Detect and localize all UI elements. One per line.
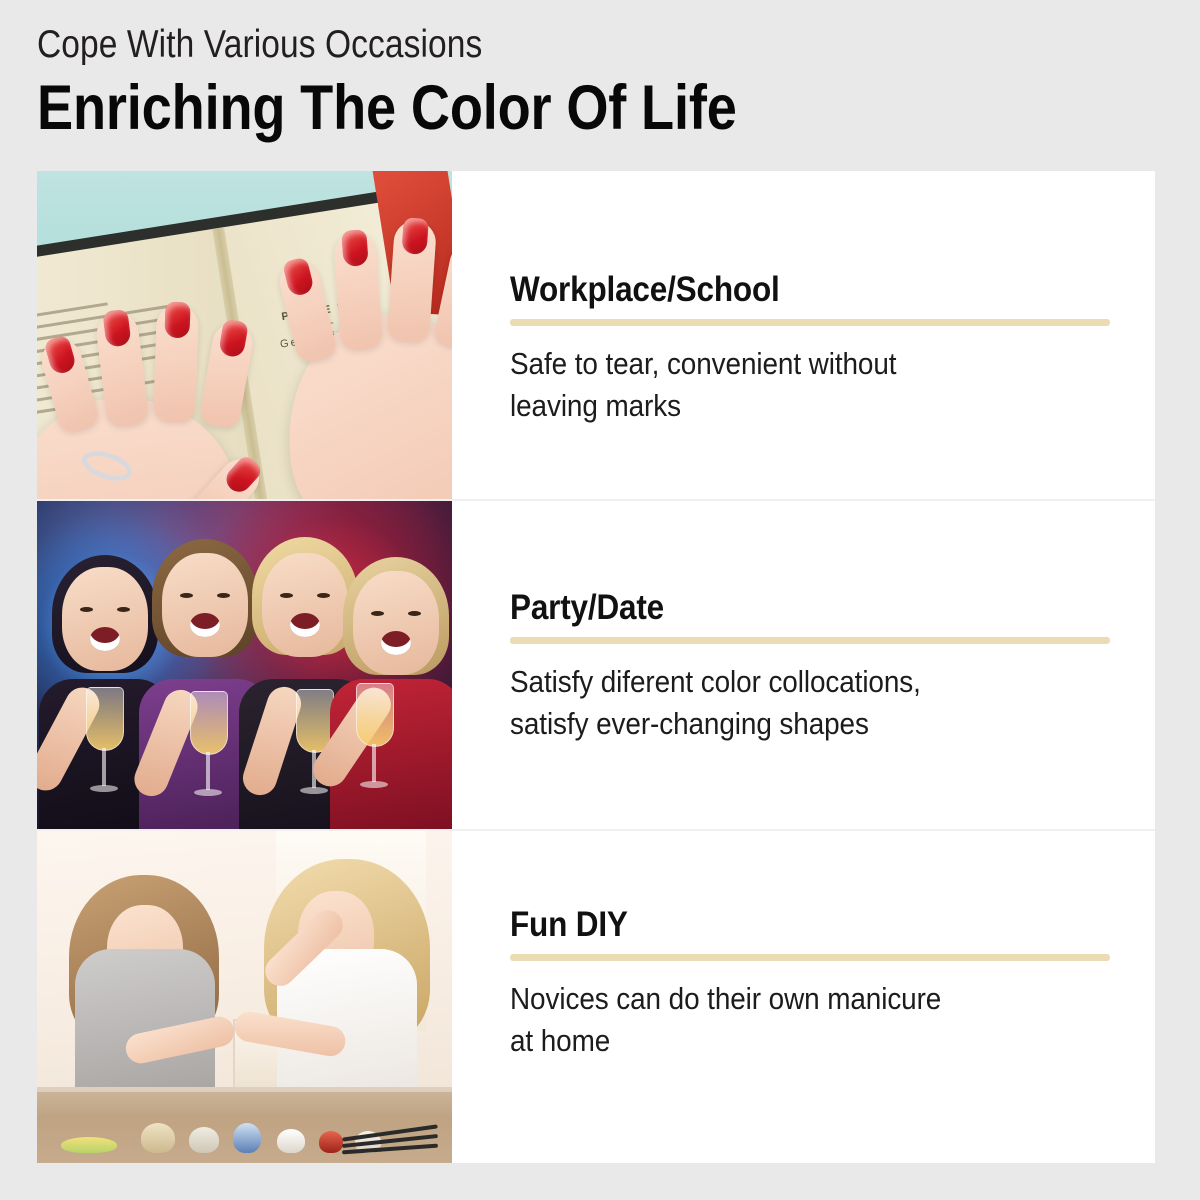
champagne-glass: [351, 683, 397, 795]
glass-bowl: [356, 683, 394, 747]
nail-pot: [233, 1123, 261, 1153]
feature-row-party-date: Party/Date Satisfy diferent color colloc…: [37, 501, 1155, 831]
nail-pot: [319, 1131, 343, 1153]
glass-foot: [194, 789, 222, 796]
feature-copy-fun-diy: Fun DIY Novices can do their own manicur…: [452, 831, 1155, 1163]
eye: [117, 607, 130, 612]
red-nail: [43, 334, 77, 375]
eye: [217, 593, 230, 598]
open-mouth: [381, 631, 411, 655]
feature-image-fun-diy: [37, 831, 452, 1163]
nail-art-strip: [61, 1137, 117, 1153]
page-header: Cope With Various Occasions Enriching Th…: [37, 22, 1157, 142]
party-person-4: [331, 549, 452, 829]
red-nail: [282, 257, 315, 298]
open-mouth: [290, 613, 320, 637]
grey-tank-top: [75, 949, 215, 1089]
feature-image-party-date: [37, 501, 452, 829]
feature-image-workplace-school: PARTIE IIGeneralites: [37, 171, 452, 499]
face: [162, 553, 248, 657]
red-nail: [401, 217, 428, 255]
glass-stem: [102, 748, 106, 786]
glass-bowl: [86, 687, 124, 751]
eye: [80, 607, 93, 612]
right-hand-graphic: [273, 235, 452, 499]
red-nail: [218, 319, 249, 359]
champagne-glass: [81, 687, 127, 799]
feature-description: Satisfy diferent color collocations, sat…: [510, 661, 921, 745]
eye: [408, 611, 421, 616]
glass-bowl: [190, 691, 228, 755]
gold-divider: [510, 319, 1110, 326]
glass-stem: [372, 744, 376, 782]
features-card: PARTIE IIGeneralites: [37, 171, 1155, 1163]
left-hand-graphic: [55, 303, 295, 499]
finger: [198, 320, 255, 429]
glass-foot: [360, 781, 388, 788]
wooden-table: [37, 1087, 452, 1163]
feature-copy-workplace-school: Workplace/School Safe to tear, convenien…: [452, 171, 1155, 499]
finger: [275, 258, 338, 365]
red-nail: [102, 309, 131, 348]
red-nail: [341, 229, 368, 267]
glass-stem: [206, 752, 210, 790]
feature-title: Fun DIY: [510, 906, 628, 944]
finger: [387, 220, 437, 343]
feature-description: Safe to tear, convenient without leaving…: [510, 343, 896, 427]
finger: [333, 232, 383, 351]
nail-pot: [277, 1129, 305, 1153]
diy-person-left: [55, 879, 235, 1089]
feature-copy-party-date: Party/Date Satisfy diferent color colloc…: [452, 501, 1155, 829]
eye: [180, 593, 193, 598]
feature-title: Party/Date: [510, 589, 664, 627]
face: [353, 571, 439, 675]
feature-row-fun-diy: Fun DIY Novices can do their own manicur…: [37, 831, 1155, 1163]
diy-person-right: [252, 867, 442, 1089]
page-title: Enriching The Color Of Life: [37, 74, 1000, 142]
feature-description: Novices can do their own manicure at hom…: [510, 978, 941, 1062]
face: [62, 567, 148, 671]
eye: [280, 593, 293, 598]
product-feature-page: Cope With Various Occasions Enriching Th…: [0, 0, 1200, 1200]
feature-title: Workplace/School: [510, 271, 780, 309]
open-mouth: [90, 627, 120, 651]
feature-row-workplace-school: PARTIE IIGeneralites: [37, 171, 1155, 501]
nail-brushes: [342, 1129, 438, 1151]
page-eyebrow: Cope With Various Occasions: [37, 22, 1000, 68]
finger: [433, 240, 452, 350]
finger: [153, 304, 199, 421]
gold-divider: [510, 954, 1110, 961]
nail-pot: [141, 1123, 175, 1153]
red-nail: [164, 302, 190, 339]
glass-foot: [90, 785, 118, 792]
champagne-glass: [185, 691, 231, 803]
eye: [371, 611, 384, 616]
open-mouth: [190, 613, 220, 637]
eye: [317, 593, 330, 598]
gold-divider: [510, 637, 1110, 644]
nail-pot: [189, 1127, 219, 1153]
glass-foot: [300, 787, 328, 794]
